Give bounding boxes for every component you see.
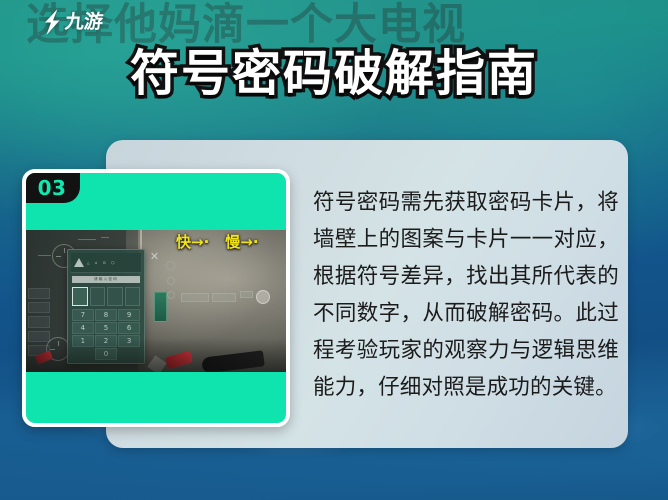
keypad-symbol-row: △ ⌂ ⊡ ⬡ (87, 261, 116, 265)
overlay-label-slow: 慢→· (225, 235, 258, 250)
panel-slot (28, 302, 50, 313)
keypad-display: 请输入密码 (72, 276, 140, 283)
overlay-annotation: 快→· 慢→· (176, 235, 259, 250)
keypad-display-text: 请输入密码 (94, 278, 118, 282)
wall-green-device (154, 292, 167, 322)
wall-plate (181, 293, 209, 302)
panel-slot (28, 316, 50, 327)
keypad-key-7[interactable]: 7 (72, 309, 94, 321)
panel-slot (28, 288, 50, 299)
game-screenshot: △ ⌂ ⊡ ⬡ 请输入密码 7 8 9 4 5 6 1 2 3 0 (26, 230, 286, 372)
header: 选择他妈滴一个大电视 九游 符号密码破解指南 (0, 0, 668, 132)
brand-wordmark: 九游 (64, 13, 104, 32)
keypad-slot-1[interactable] (72, 287, 88, 306)
screenshot-card: 03 △ ⌂ ⊡ ⬡ (22, 169, 290, 427)
close-icon[interactable]: ✕ (148, 250, 161, 263)
keypad-slot-2[interactable] (90, 287, 106, 306)
step-number-label: 03 (38, 178, 67, 198)
page-title: 符号密码破解指南 (0, 48, 668, 100)
screenshot-bottom-shadow (26, 338, 286, 372)
keypad-key-8[interactable]: 8 (95, 309, 117, 321)
triangle-icon (74, 258, 84, 267)
bolt-icon (41, 8, 63, 36)
keypad-key-5[interactable]: 5 (95, 322, 117, 334)
keypad-key-9[interactable]: 9 (118, 309, 140, 321)
wall-plate (240, 291, 253, 298)
description-text: 符号密码需先获取密码卡片，将墙壁上的图案与卡片一一对应，根据符号差异，找出其所代… (313, 185, 619, 407)
keypad-slot-4[interactable] (125, 287, 141, 306)
wall-plate (212, 293, 236, 302)
step-number-badge: 03 (26, 173, 80, 203)
keypad-key-6[interactable]: 6 (118, 322, 140, 334)
hud-tick (101, 237, 109, 238)
keypad-input-slots[interactable] (72, 287, 140, 306)
wall-dot-icon (166, 261, 175, 270)
wall-dot-icon (167, 277, 175, 285)
wall-dot-icon (167, 291, 175, 299)
overlay-label-fast: 快→· (176, 235, 209, 250)
brand-logo: 九游 (41, 8, 103, 36)
keypad-slot-3[interactable] (107, 287, 123, 306)
hud-tick (38, 255, 51, 256)
keypad-key-4[interactable]: 4 (72, 322, 94, 334)
wall-round-fixture (256, 290, 270, 304)
hud-tick (78, 239, 96, 240)
keypad-header: △ ⌂ ⊡ ⬡ (71, 253, 141, 273)
